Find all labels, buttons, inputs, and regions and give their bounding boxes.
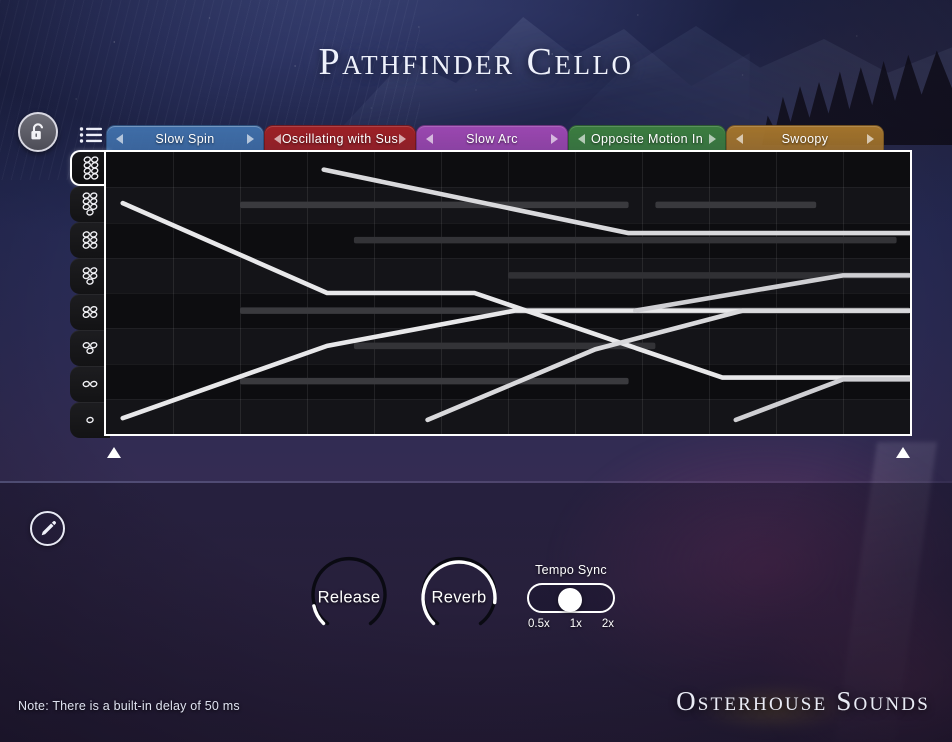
release-knob-arc — [307, 556, 391, 640]
preset-tab-bar[interactable]: Slow SpinOscillating with SusSlow ArcOpp… — [106, 125, 884, 151]
tempo-sync-option-1x[interactable]: 1x — [570, 618, 582, 630]
path-1[interactable] — [123, 203, 910, 377]
pencil-icon[interactable] — [30, 511, 65, 546]
preset-tab-1[interactable]: Oscillating with Sus — [264, 125, 416, 151]
row-6-notes-icon — [77, 227, 103, 253]
release-knob[interactable]: Release — [307, 556, 391, 640]
reverb-knob-arc — [417, 556, 501, 640]
preset-tab-label: Swoopy — [760, 132, 851, 146]
tempo-sync-option-2x[interactable]: 2x — [602, 618, 614, 630]
triangle-left-icon[interactable] — [578, 134, 585, 144]
tempo-sync-control[interactable]: Tempo Sync 0.5x1x2x — [527, 563, 615, 630]
preset-tab-label: Opposite Motion In — [569, 132, 725, 146]
unlock-glyph — [29, 122, 47, 142]
reverb-knob[interactable]: Reverb — [417, 556, 501, 640]
tempo-sync-options[interactable]: 0.5x1x2x — [527, 618, 615, 630]
triangle-left-icon[interactable] — [426, 134, 433, 144]
row-1-note-icon — [77, 407, 103, 433]
note-paths[interactable] — [106, 152, 910, 434]
preset-tab-label: Slow Spin — [133, 132, 236, 146]
row-7-notes-icon — [77, 191, 103, 217]
path-3[interactable] — [324, 170, 910, 233]
sustain-bar[interactable] — [240, 378, 629, 384]
triangle-right-icon[interactable] — [867, 134, 874, 144]
row-2-notes-icon — [77, 371, 103, 397]
row-4-notes-icon — [77, 299, 103, 325]
delay-note: Note: There is a built-in delay of 50 ms — [18, 699, 240, 713]
unlock-icon[interactable] — [18, 112, 58, 152]
preset-tab-label: Slow Arc — [444, 132, 540, 146]
end-marker[interactable] — [896, 447, 910, 458]
preset-tab-0[interactable]: Slow Spin — [106, 125, 264, 151]
sustain-bar[interactable] — [655, 202, 816, 208]
path-4[interactable] — [428, 311, 910, 420]
brand-logo: Osterhouse Sounds — [676, 686, 930, 717]
preset-tab-3[interactable]: Opposite Motion In — [568, 125, 726, 151]
list-icon[interactable] — [78, 124, 106, 148]
triangle-right-icon[interactable] — [399, 134, 406, 144]
page-title: Pathfinder Cello — [0, 40, 952, 84]
sequencer-grid[interactable] — [104, 150, 912, 436]
tempo-sync-option-0-5x[interactable]: 0.5x — [528, 618, 550, 630]
row-8-notes-icon — [78, 155, 104, 181]
list-glyph — [78, 124, 106, 148]
preset-tab-2[interactable]: Slow Arc — [416, 125, 568, 151]
plugin-window: Pathfinder Cello Slow SpinOscillating wi… — [0, 0, 952, 742]
preset-tab-label: Oscillating with Sus — [260, 132, 420, 146]
header: Pathfinder Cello — [0, 0, 952, 110]
path-2[interactable] — [123, 311, 910, 419]
path-6[interactable] — [635, 275, 910, 310]
triangle-left-icon[interactable] — [736, 134, 743, 144]
triangle-left-icon[interactable] — [116, 134, 123, 144]
start-marker[interactable] — [107, 447, 121, 458]
row-5-notes-icon — [77, 263, 103, 289]
preset-tab-4[interactable]: Swoopy — [726, 125, 884, 151]
triangle-right-icon[interactable] — [551, 134, 558, 144]
pencil-glyph — [38, 519, 57, 538]
tempo-sync-knob[interactable] — [558, 588, 582, 612]
sustain-bar[interactable] — [240, 202, 629, 208]
tempo-sync-label: Tempo Sync — [527, 563, 615, 577]
sustain-bar[interactable] — [354, 237, 897, 243]
row-3-notes-icon — [77, 335, 103, 361]
triangle-left-icon[interactable] — [274, 134, 281, 144]
tempo-sync-toggle[interactable] — [527, 583, 615, 613]
triangle-right-icon[interactable] — [709, 134, 716, 144]
path-5[interactable] — [736, 379, 910, 420]
triangle-right-icon[interactable] — [247, 134, 254, 144]
